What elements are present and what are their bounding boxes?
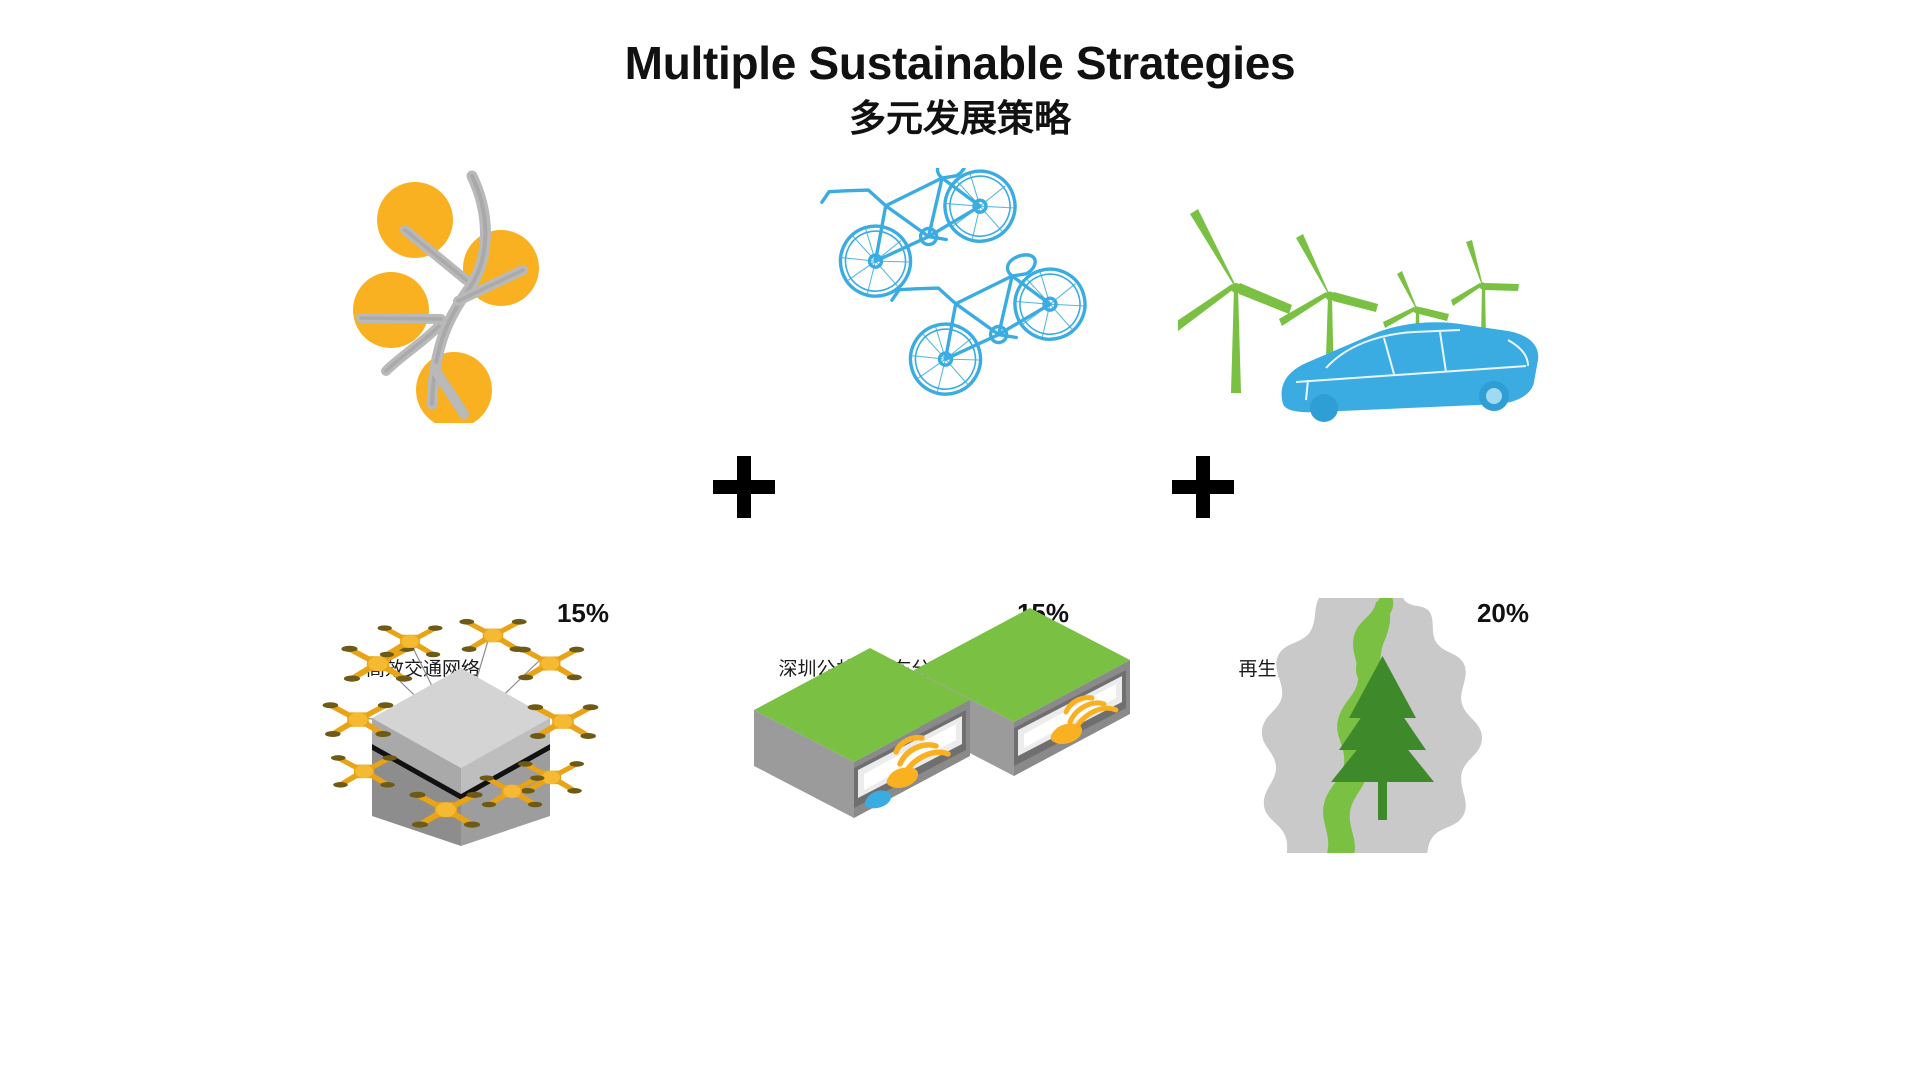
strategy-row-1: 15% 15% 20% 高效交通网络 深圳公共自行车分享系统 再生能源电动车分享… — [0, 168, 1920, 538]
green-roof-garage-icon — [718, 598, 1148, 853]
green-city-map-icon — [1178, 598, 1608, 853]
strategy-card-autonomous-vehicles[interactable] — [718, 598, 1148, 968]
drone-hub-icon — [258, 598, 688, 853]
slide-canvas: Multiple Sustainable Strategies 多元发展策略 — [0, 0, 1920, 1080]
bicycles-icon — [718, 168, 1148, 423]
plus-operator — [1172, 456, 1234, 518]
strategy-row-2: 10% 10% 30% 无人机运输代传统运输卡车 自动导航汽车代替传 统汽车增强… — [0, 598, 1920, 968]
page-title-zh: 多元发展策略 — [0, 94, 1920, 144]
strategy-card-urban-greening[interactable] — [1178, 598, 1608, 968]
plus-operator — [713, 456, 775, 518]
title-block: Multiple Sustainable Strategies 多元发展策略 — [0, 38, 1920, 143]
strategy-card-drone-logistics[interactable] — [258, 598, 688, 968]
wind-turbine-car-icon — [1178, 168, 1608, 423]
strategy-card-bike-share[interactable] — [718, 168, 1148, 538]
footer-logos: AVOID OBVIOUS ARCHITECTS + tetra 肆合 設計 a… — [0, 950, 1920, 1080]
strategy-card-transit-network[interactable] — [258, 168, 688, 538]
page-title-en: Multiple Sustainable Strategies — [0, 38, 1920, 90]
transit-network-icon — [258, 168, 688, 423]
strategy-grid: 15% 15% 20% 高效交通网络 深圳公共自行车分享系统 再生能源电动车分享… — [0, 168, 1920, 968]
strategy-card-ev-share[interactable] — [1178, 168, 1608, 538]
